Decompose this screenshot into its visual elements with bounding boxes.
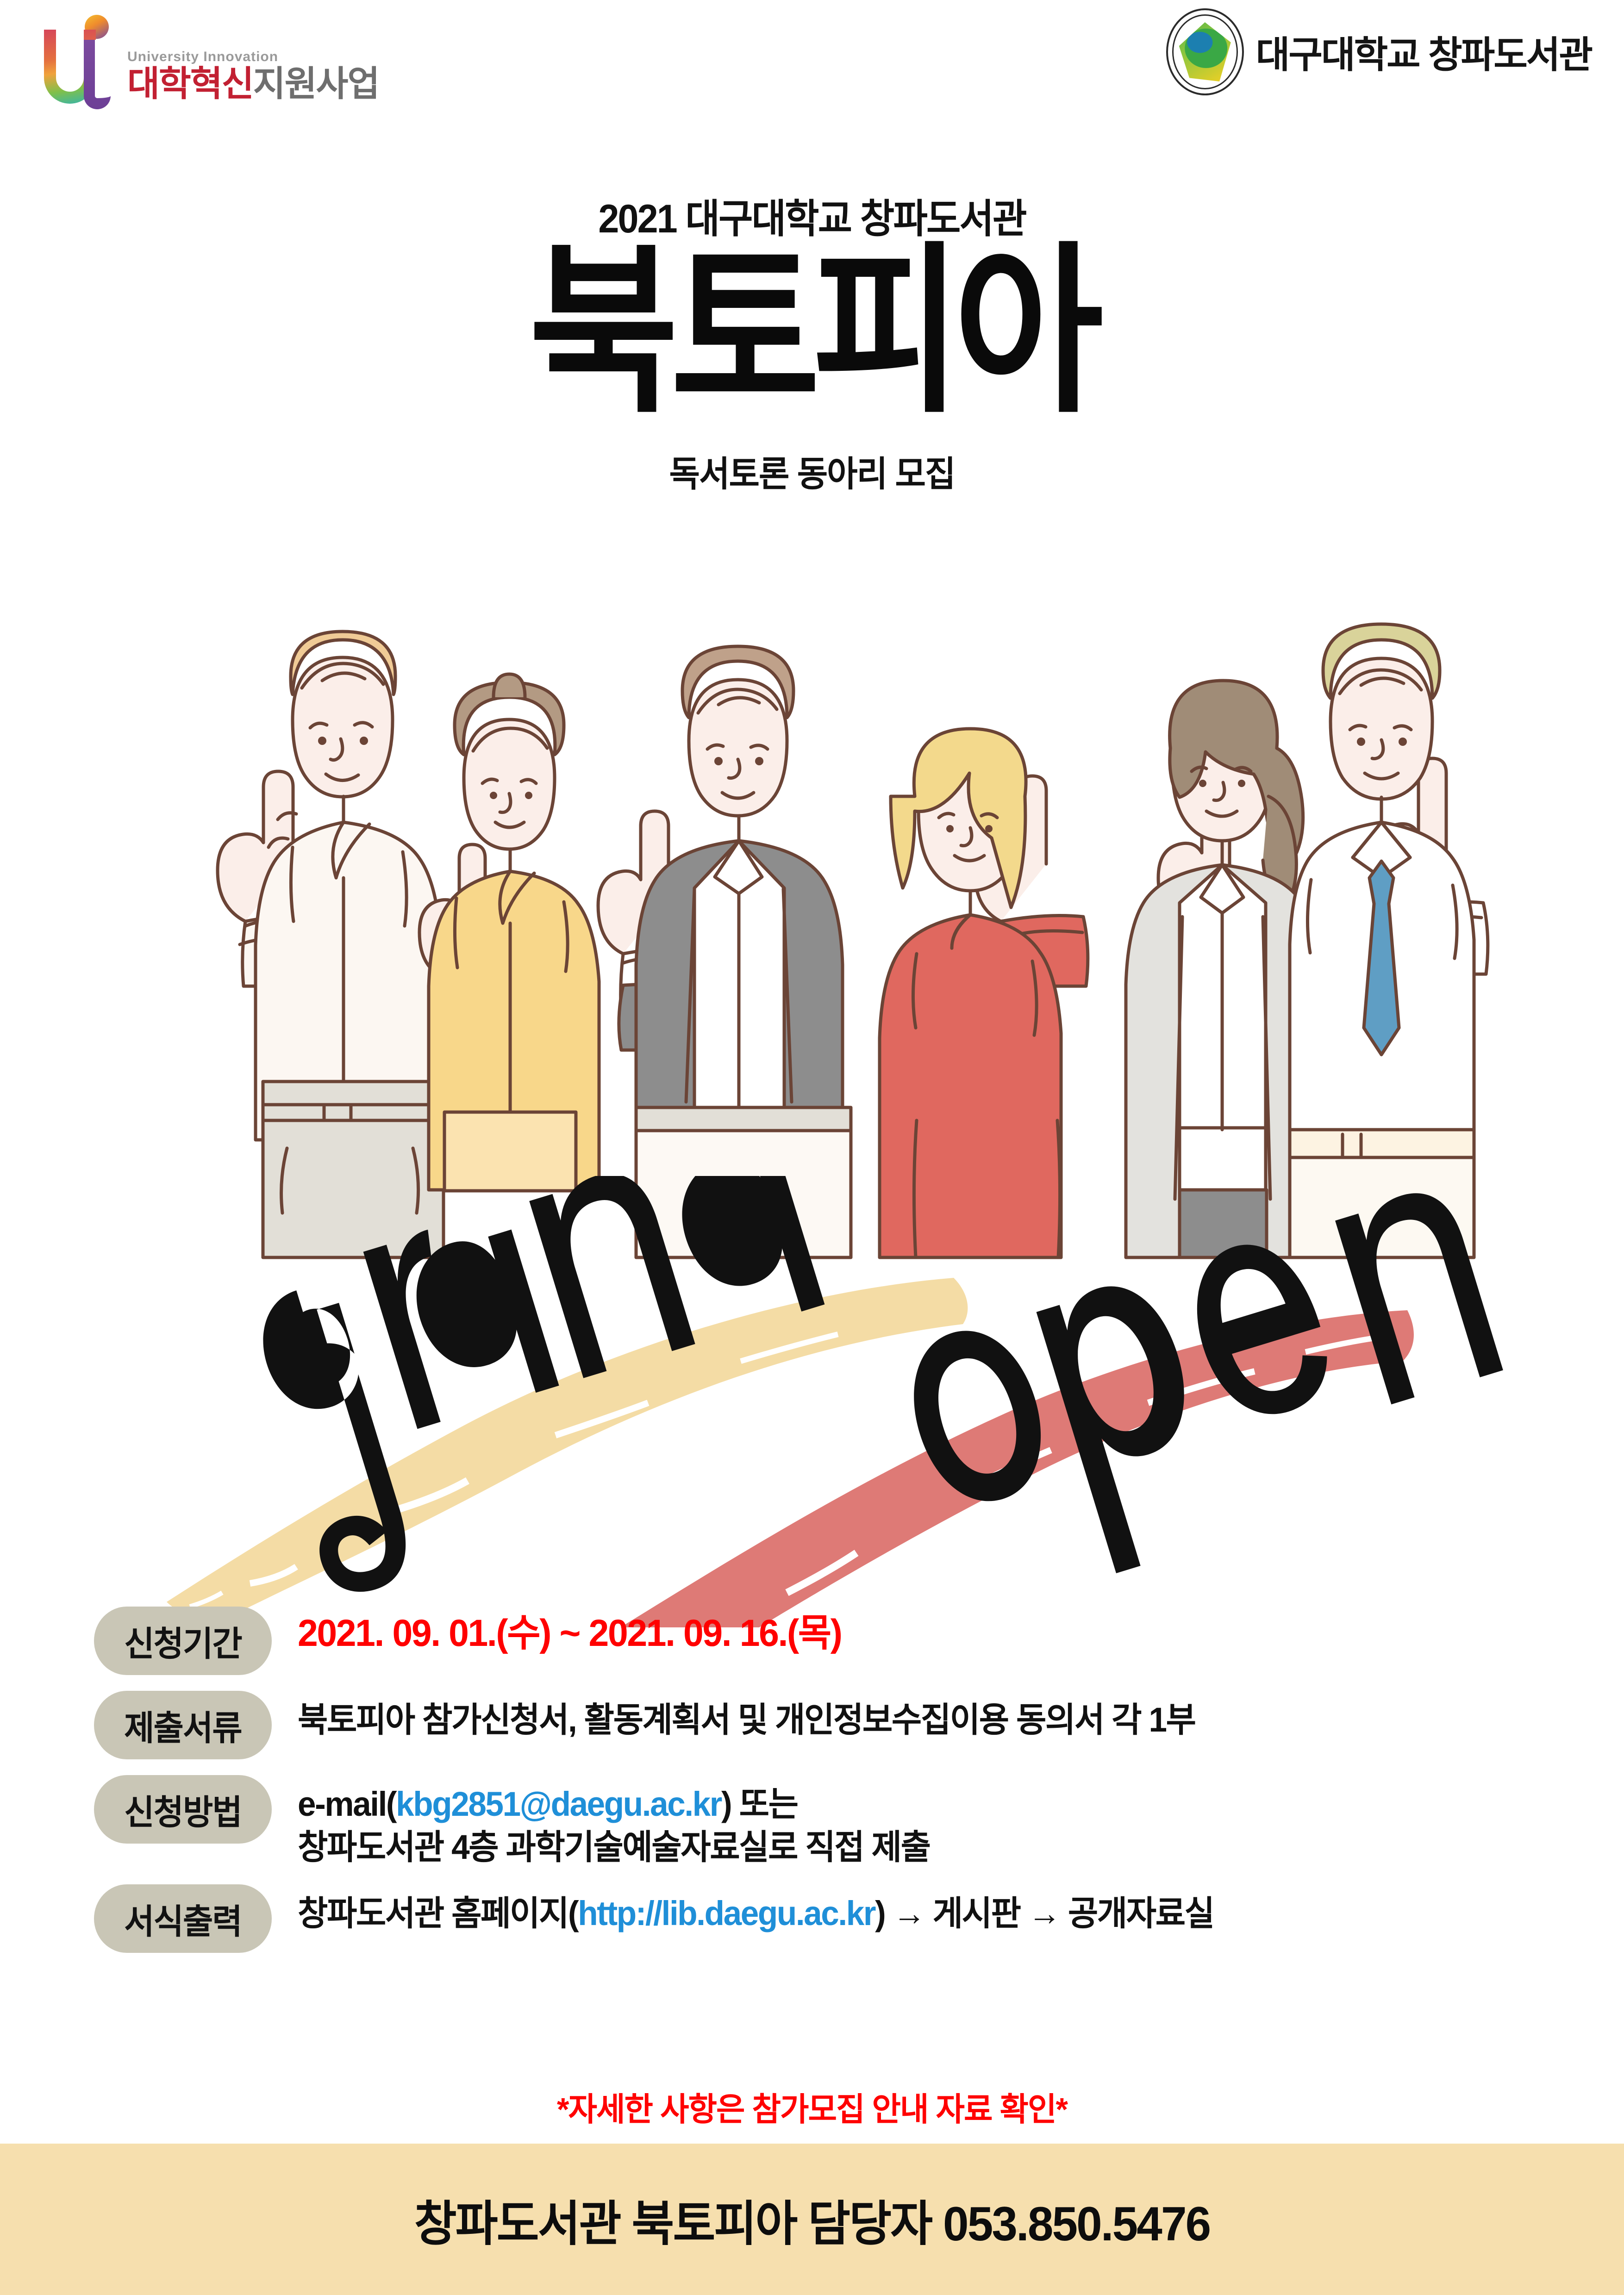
website-prefix: 창파도서관 홈페이지( <box>298 1894 578 1932</box>
library-logo-name: 대구대학교 창파도서관 <box>1256 25 1592 79</box>
ui-logo-name-gray: 지원사업 <box>253 64 379 104</box>
info-row-how-to-apply: 신청방법 e-mail(kbg2851@daegu.ac.kr) 또는 창파도서… <box>90 1775 1549 1869</box>
email-suffix: ) 또는 <box>721 1785 798 1823</box>
daegu-university-seal-icon <box>1166 8 1244 95</box>
university-innovation-logo: University Innovation 대학혁신지원사업 <box>44 13 379 106</box>
ui-logo-name-red: 대학혁신 <box>127 64 253 104</box>
info-row-required-documents: 제출서류 북토피아 참가신청서, 활동계획서 및 개인정보수집이용 동의서 각 … <box>90 1691 1549 1759</box>
info-row-application-period: 신청기간 2021. 09. 01.(수) ~ 2021. 09. 16.(목) <box>90 1607 1549 1675</box>
email-link[interactable]: kbg2851@daegu.ac.kr <box>396 1785 721 1823</box>
poster-root: University Innovation 대학혁신지원사업 대구대학교 창파도… <box>0 0 1624 2295</box>
page-title: 북토피아 <box>0 244 1624 419</box>
ui-logo-name: 대학혁신지원사업 <box>127 67 379 102</box>
info-label-how-to-apply: 신청방법 <box>94 1775 272 1844</box>
website-suffix: ) → 게시판 → 공개자료실 <box>875 1894 1214 1932</box>
ui-logo-tagline: University Innovation <box>127 50 379 64</box>
poster-header: University Innovation 대학혁신지원사업 대구대학교 창파도… <box>0 0 1624 120</box>
how-to-apply-inperson-line: 창파도서관 4층 과학기술예술자료실로 직접 제출 <box>298 1826 930 1869</box>
ui-logo-mark-icon <box>44 13 118 106</box>
ui-logo-j-icon <box>84 40 111 109</box>
info-value-form-download: 창파도서관 홈페이지(http://lib.daegu.ac.kr) → 게시판… <box>298 1884 1252 1935</box>
title-subtitle: 독서토론 동아리 모집 <box>41 445 1584 496</box>
how-to-apply-email-line: e-mail(kbg2851@daegu.ac.kr) 또는 <box>298 1782 930 1826</box>
title-block: 2021 대구대학교 창파도서관 북토피아 독서토론 동아리 모집 <box>0 199 1624 496</box>
info-note: *자세한 사항은 참가모집 안내 자료 확인* <box>25 2083 1600 2130</box>
info-value-how-to-apply: e-mail(kbg2851@daegu.ac.kr) 또는 창파도서관 4층 … <box>298 1775 956 1869</box>
email-prefix: e-mail( <box>298 1785 396 1823</box>
required-documents-text: 북토피아 참가신청서, 활동계획서 및 개인정보수집이용 동의서 각 1부 <box>298 1698 1195 1741</box>
info-value-required-documents: 북토피아 참가신청서, 활동계획서 및 개인정보수집이용 동의서 각 1부 <box>298 1691 1232 1741</box>
form-download-line: 창파도서관 홈페이지(http://lib.daegu.ac.kr) → 게시판… <box>298 1892 1214 1935</box>
six-people-thumbs-up-illustration <box>130 602 1509 1259</box>
ui-logo-text: University Innovation 대학혁신지원사업 <box>127 50 379 106</box>
info-row-form-download: 서식출력 창파도서관 홈페이지(http://lib.daegu.ac.kr) … <box>90 1884 1549 1953</box>
footer-contact-text: 창파도서관 북토피아 담당자 053.850.5476 <box>414 2184 1210 2254</box>
info-table: 신청기간 2021. 09. 01.(수) ~ 2021. 09. 16.(목)… <box>90 1607 1549 1969</box>
info-label-application-period: 신청기간 <box>94 1607 272 1675</box>
info-label-required-documents: 제출서류 <box>94 1691 272 1759</box>
poster-footer: 창파도서관 북토피아 담당자 053.850.5476 <box>0 2144 1624 2295</box>
website-link[interactable]: http://lib.daegu.ac.kr <box>578 1894 875 1932</box>
grand-open-brush-block <box>139 1176 1528 1630</box>
daegu-library-logo: 대구대학교 창파도서관 <box>1166 8 1592 95</box>
info-label-form-download: 서식출력 <box>94 1884 272 1953</box>
info-value-application-period: 2021. 09. 01.(수) ~ 2021. 09. 16.(목) <box>298 1607 864 1657</box>
application-period-text: 2021. 09. 01.(수) ~ 2021. 09. 16.(목) <box>298 1609 842 1657</box>
